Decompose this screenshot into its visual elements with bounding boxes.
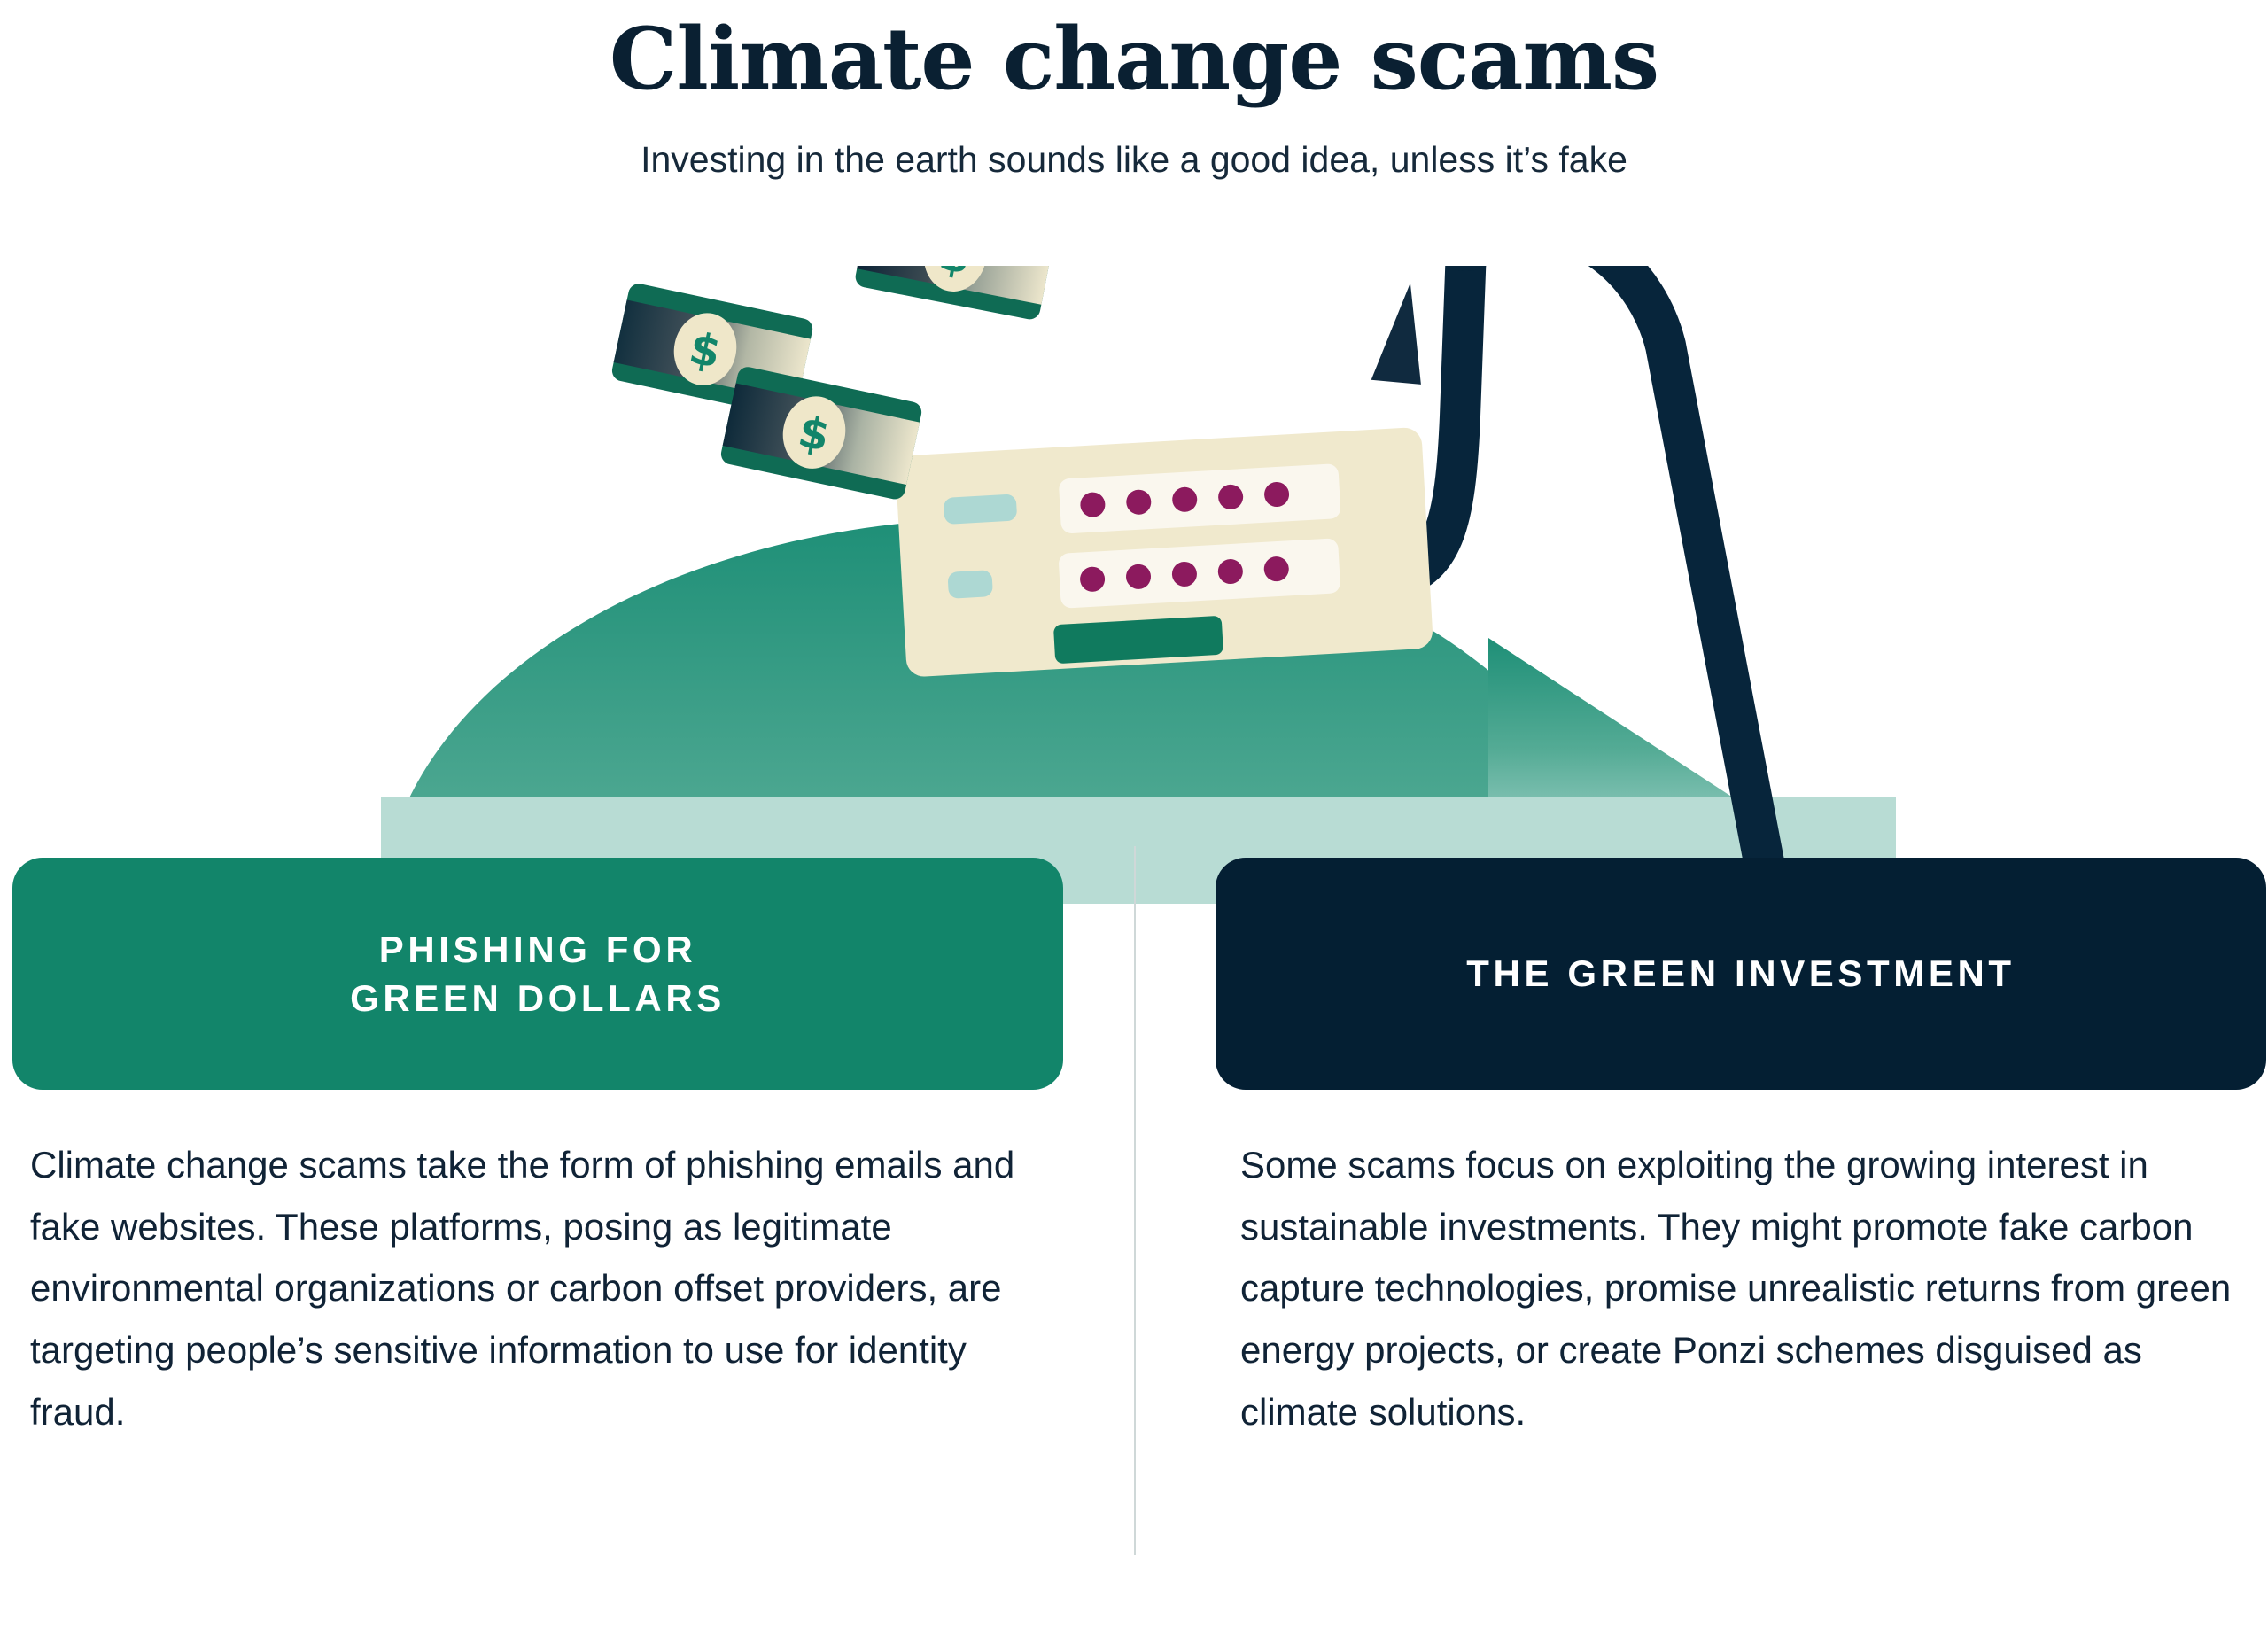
hero-illustration: $ $ $ xyxy=(0,266,2268,904)
banner-label-line-2: GREEN DOLLARS xyxy=(350,974,726,1022)
banknote: $ xyxy=(854,266,1057,321)
phishing-form-card xyxy=(895,427,1433,678)
form-label-chip xyxy=(944,494,1018,525)
banner-label: PHISHING FOR GREEN DOLLARS xyxy=(350,925,726,1023)
body-text-green-investment: Some scams focus on exploiting the growi… xyxy=(1240,1134,2233,1443)
section-banners: PHISHING FOR GREEN DOLLARS THE GREEN INV… xyxy=(0,858,2268,1090)
hook-barb xyxy=(1368,283,1421,386)
column-green-investment: Some scams focus on exploiting the growi… xyxy=(1240,1134,2233,1443)
banner-label-line-1: THE GREEN INVESTMENT xyxy=(1466,949,2015,998)
page-header: Climate change scams Investing in the ea… xyxy=(0,0,2268,182)
body-text-phishing: Climate change scams take the form of ph… xyxy=(30,1134,1022,1443)
banner-label: THE GREEN INVESTMENT xyxy=(1466,949,2015,998)
form-label-chip xyxy=(947,570,993,599)
column-phishing: Climate change scams take the form of ph… xyxy=(30,1134,1022,1443)
banner-phishing-for-green-dollars[interactable]: PHISHING FOR GREEN DOLLARS xyxy=(12,858,1063,1090)
page-subtitle: Investing in the earth sounds like a goo… xyxy=(0,106,2268,182)
banner-the-green-investment[interactable]: THE GREEN INVESTMENT xyxy=(1216,858,2266,1090)
banknote: $ xyxy=(719,365,924,501)
banner-label-line-1: PHISHING FOR xyxy=(350,925,726,974)
section-bodies: Climate change scams take the form of ph… xyxy=(0,1134,2268,1595)
page-title: Climate change scams xyxy=(0,7,2268,106)
